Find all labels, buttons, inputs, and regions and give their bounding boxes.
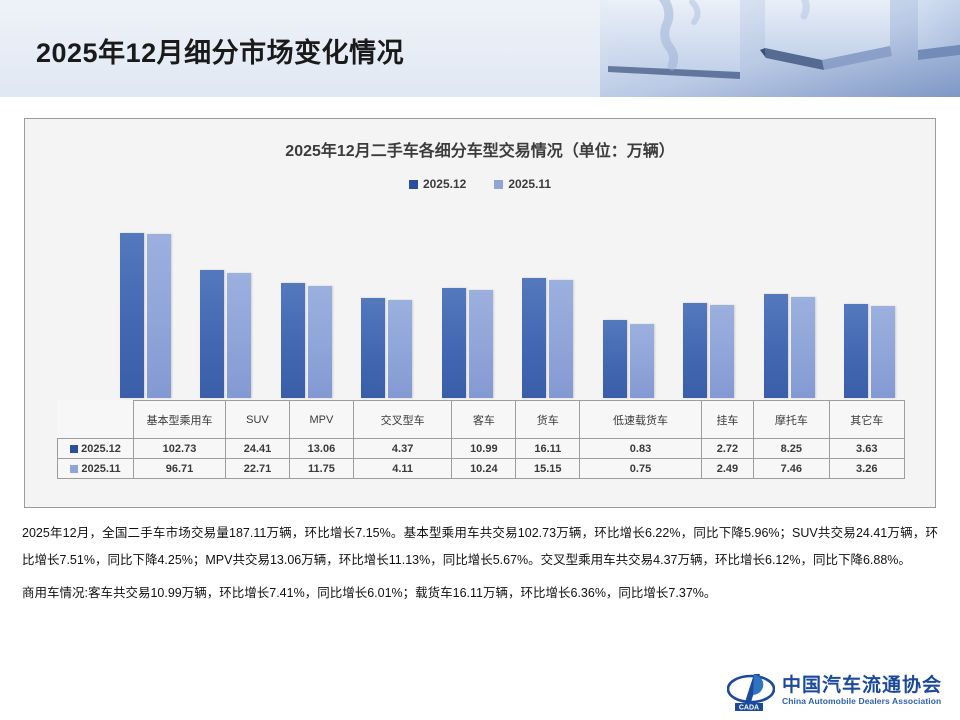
- body-paragraph-2: 商用车情况:客车共交易10.99万辆，环比增长7.41%，同比增长6.01%；载…: [22, 580, 938, 607]
- bar-2025.11-SUV[interactable]: [227, 273, 251, 398]
- legend-item-2025-11[interactable]: 2025.11: [494, 177, 551, 191]
- legend-square-icon: [70, 465, 78, 473]
- bar-2025.12-低速载货车[interactable]: [603, 320, 627, 398]
- legend-square-icon: [409, 180, 418, 189]
- table-cell: 15.15: [516, 459, 580, 479]
- table-header-row: 基本型乘用车SUVMPV交叉型车客车货车低速载货车挂车摩托车其它车: [58, 401, 905, 439]
- legend-square-icon: [70, 445, 78, 453]
- bar-2025.11-MPV[interactable]: [308, 286, 332, 398]
- cada-mark-text: CADA: [739, 705, 759, 712]
- decorative-cubes-svg: [600, 0, 960, 97]
- legend-label: 2025.11: [508, 177, 551, 191]
- table-cell: 0.83: [580, 439, 702, 459]
- table-cell: 10.24: [452, 459, 516, 479]
- table-column-header-5: 客车: [452, 401, 516, 439]
- table-column-header-2: SUV: [226, 401, 290, 439]
- bar-2025.12-货车[interactable]: [522, 278, 546, 398]
- cada-swoosh-logo-icon: CADA: [727, 670, 775, 712]
- table-cell: 11.75: [289, 459, 353, 479]
- chart-title: 2025年12月二手车各细分车型交易情况（单位：万辆）: [25, 137, 935, 161]
- bar-2025.11-挂车[interactable]: [710, 305, 734, 398]
- table-column-header-6: 货车: [516, 401, 580, 439]
- table-cell: 0.75: [580, 459, 702, 479]
- table-column-header-10: 其它车: [829, 401, 904, 439]
- chart-panel: 2025年12月二手车各细分车型交易情况（单位：万辆） 2025.12 2025…: [24, 118, 936, 508]
- table-column-header-8: 挂车: [701, 401, 753, 439]
- bar-2025.12-基本型乘用车[interactable]: [120, 233, 144, 398]
- body-paragraph-1: 2025年12月，全国二手车市场交易量187.11万辆，环比增长7.15%。基本…: [22, 520, 938, 574]
- page-title: 2025年12月细分市场变化情况: [36, 31, 404, 70]
- bar-group-3: [266, 214, 347, 398]
- bar-2025.12-摩托车[interactable]: [764, 294, 788, 398]
- bar-2025.11-基本型乘用车[interactable]: [147, 234, 171, 398]
- world-map-cubes-image: [600, 0, 960, 97]
- table-cell: 10.99: [452, 439, 516, 459]
- slide-header: 2025年12月细分市场变化情况: [0, 0, 960, 97]
- table-cell: 3.63: [829, 439, 904, 459]
- table-row: 2025.1196.7122.7111.754.1110.2415.150.75…: [58, 459, 905, 479]
- bar-2025.12-MPV[interactable]: [281, 283, 305, 398]
- cada-logo: CADA 中国汽车流通协会 China Automobile Dealers A…: [727, 670, 942, 712]
- legend-label: 2025.12: [423, 177, 466, 191]
- bar-2025.12-客车[interactable]: [442, 288, 466, 398]
- bar-2025.12-交叉型车[interactable]: [361, 298, 385, 398]
- bar-group-5: [427, 214, 508, 398]
- bar-group-1: [105, 214, 186, 398]
- bar-2025.12-其它车[interactable]: [844, 304, 868, 398]
- table-column-header-3: MPV: [289, 401, 353, 439]
- bar-group-2: [186, 214, 267, 398]
- chart-plot-area: [105, 214, 910, 398]
- bar-group-6: [508, 214, 589, 398]
- chart-data-table: 基本型乘用车SUVMPV交叉型车客车货车低速载货车挂车摩托车其它车 2025.1…: [57, 400, 905, 479]
- table-column-header-7: 低速载货车: [580, 401, 702, 439]
- bar-group-9: [749, 214, 830, 398]
- legend-item-2025-12[interactable]: 2025.12: [409, 177, 466, 191]
- bar-group-4: [347, 214, 428, 398]
- table-cell: 13.06: [289, 439, 353, 459]
- table-column-header-4: 交叉型车: [353, 401, 451, 439]
- bar-group-7: [588, 214, 669, 398]
- table-row-header-2025.11: 2025.11: [58, 459, 134, 479]
- table-body: 2025.12102.7324.4113.064.3710.9916.110.8…: [58, 439, 905, 479]
- table-cell: 96.71: [134, 459, 226, 479]
- table-cell: 102.73: [134, 439, 226, 459]
- bar-2025.11-其它车[interactable]: [871, 306, 895, 398]
- bar-group-10: [830, 214, 911, 398]
- table-cell: 2.49: [701, 459, 753, 479]
- bar-group-8: [669, 214, 750, 398]
- table-column-header-1: 基本型乘用车: [134, 401, 226, 439]
- table-row: 2025.12102.7324.4113.064.3710.9916.110.8…: [58, 439, 905, 459]
- slide-root: 2025年12月细分市场变化情况 2025年12月二手车各细分车型交易情况（单位…: [0, 0, 960, 720]
- logo-name-en: China Automobile Dealers Association: [782, 696, 942, 706]
- table-row-header-2025.12: 2025.12: [58, 439, 134, 459]
- table-cell: 8.25: [754, 439, 829, 459]
- logo-name-cn: 中国汽车流通协会: [782, 676, 942, 696]
- table-cell: 16.11: [516, 439, 580, 459]
- bar-2025.12-挂车[interactable]: [683, 303, 707, 398]
- table-cell: 7.46: [754, 459, 829, 479]
- bar-2025.11-低速载货车[interactable]: [630, 324, 654, 398]
- cada-mark-svg: CADA: [727, 670, 775, 712]
- table-cell: 22.71: [226, 459, 290, 479]
- bar-2025.12-SUV[interactable]: [200, 270, 224, 398]
- table-cell: 4.37: [353, 439, 451, 459]
- table-head: 基本型乘用车SUVMPV交叉型车客车货车低速载货车挂车摩托车其它车: [58, 401, 905, 439]
- table-cell: 2.72: [701, 439, 753, 459]
- table-cell: 3.26: [829, 459, 904, 479]
- table-cell: 24.41: [226, 439, 290, 459]
- table-column-header-9: 摩托车: [754, 401, 829, 439]
- body-text-block: 2025年12月，全国二手车市场交易量187.11万辆，环比增长7.15%。基本…: [22, 520, 938, 613]
- bar-2025.11-货车[interactable]: [549, 280, 573, 398]
- legend-square-icon: [494, 180, 503, 189]
- bar-2025.11-摩托车[interactable]: [791, 297, 815, 398]
- bar-2025.11-交叉型车[interactable]: [388, 300, 412, 398]
- chart-legend: 2025.12 2025.11: [25, 177, 935, 191]
- table-cell: 4.11: [353, 459, 451, 479]
- bar-2025.11-客车[interactable]: [469, 290, 493, 398]
- logo-text-block: 中国汽车流通协会 China Automobile Dealers Associ…: [782, 676, 942, 706]
- table-corner-cell: [58, 401, 134, 439]
